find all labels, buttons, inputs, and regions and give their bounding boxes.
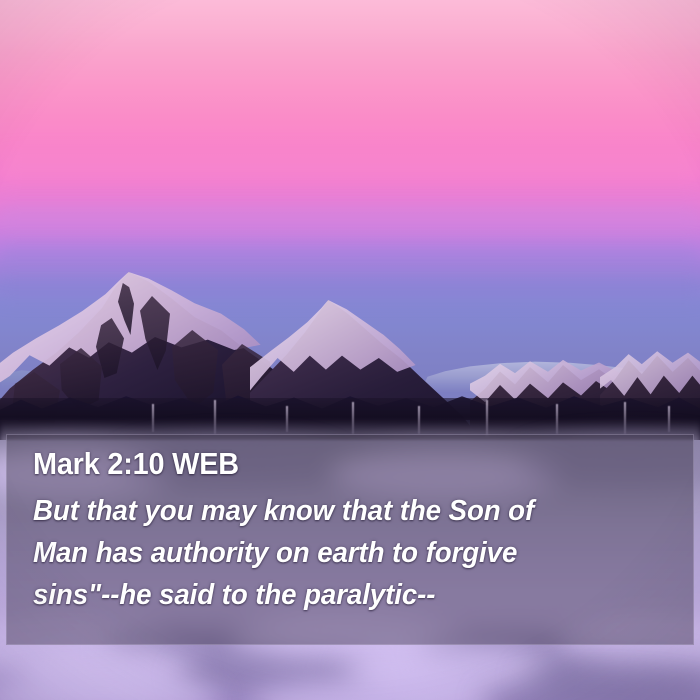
verse-overlay-panel: Mark 2:10 WEB But that you may know that…	[6, 434, 694, 645]
verse-reference: Mark 2:10 WEB	[33, 447, 239, 481]
verse-line-2: Man has authority on earth to forgive	[33, 532, 656, 574]
mountain-range	[0, 0, 700, 460]
verse-line-1: But that you may know that the Son of	[33, 490, 656, 532]
verse-image-canvas: Mark 2:10 WEB But that you may know that…	[0, 0, 700, 700]
verse-line-3: sins"--he said to the paralytic--	[33, 574, 656, 616]
verse-text: But that you may know that the Son of Ma…	[33, 490, 656, 616]
